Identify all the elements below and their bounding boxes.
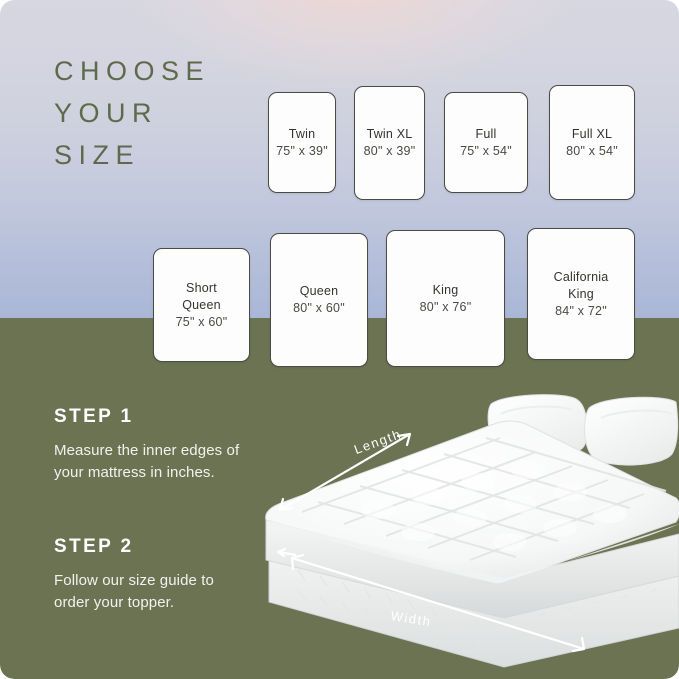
page-title: CHOOSE YOUR SIZE — [54, 50, 254, 176]
page-title-line-1: CHOOSE — [54, 50, 254, 92]
size-card-name: Full XL — [572, 126, 612, 143]
size-card-name-line-1: Short — [186, 280, 217, 297]
size-card-dimensions: 80" x 60" — [293, 300, 345, 317]
size-card-name: Full — [476, 126, 497, 143]
size-card-name: Twin XL — [367, 126, 413, 143]
size-card-twin[interactable]: Twin 75" x 39" — [268, 92, 336, 193]
size-card-dimensions: 75" x 60" — [176, 314, 228, 331]
size-card-name-line-2: King — [568, 286, 594, 303]
size-card-full-xl[interactable]: Full XL 80" x 54" — [549, 85, 635, 200]
step-1-body-line-1: Measure the inner edges of — [54, 440, 239, 462]
step-2-block: STEP 2 Follow our size guide to order yo… — [54, 536, 214, 614]
size-card-california-king[interactable]: California King 84" x 72" — [527, 228, 635, 360]
size-guide-infographic: CHOOSE YOUR SIZE Twin 75" x 39" Twin XL … — [0, 0, 679, 679]
size-card-name: Twin — [289, 126, 316, 143]
size-card-dimensions: 80" x 39" — [364, 143, 416, 160]
mattress-topper-illustration — [258, 392, 679, 679]
step-1-title: STEP 1 — [54, 406, 239, 428]
size-card-queen[interactable]: Queen 80" x 60" — [270, 233, 368, 367]
size-card-name-line-1: California — [554, 269, 609, 286]
size-card-name-line-1: King — [433, 282, 459, 299]
size-card-dimensions: 84" x 72" — [555, 303, 607, 320]
step-2-body-line-2: order your topper. — [54, 592, 214, 614]
step-2-title: STEP 2 — [54, 536, 214, 558]
size-card-twin-xl[interactable]: Twin XL 80" x 39" — [354, 86, 425, 200]
size-card-short-queen[interactable]: Short Queen 75" x 60" — [153, 248, 250, 362]
size-card-dimensions: 80" x 76" — [420, 299, 472, 316]
size-card-full[interactable]: Full 75" x 54" — [444, 92, 528, 193]
pillow-right — [585, 397, 678, 465]
size-card-king[interactable]: King 80" x 76" — [386, 230, 505, 367]
page-title-line-3: SIZE — [54, 134, 254, 176]
size-card-name-line-2: Queen — [182, 297, 221, 314]
step-1-block: STEP 1 Measure the inner edges of your m… — [54, 406, 239, 484]
step-2-body-line-1: Follow our size guide to — [54, 570, 214, 592]
page-title-line-2: YOUR — [54, 92, 254, 134]
size-card-dimensions: 80" x 54" — [566, 143, 618, 160]
size-card-dimensions: 75" x 39" — [276, 143, 328, 160]
size-card-name-line-1: Queen — [300, 283, 339, 300]
size-card-dimensions: 75" x 54" — [460, 143, 512, 160]
step-1-body-line-2: your mattress in inches. — [54, 462, 239, 484]
